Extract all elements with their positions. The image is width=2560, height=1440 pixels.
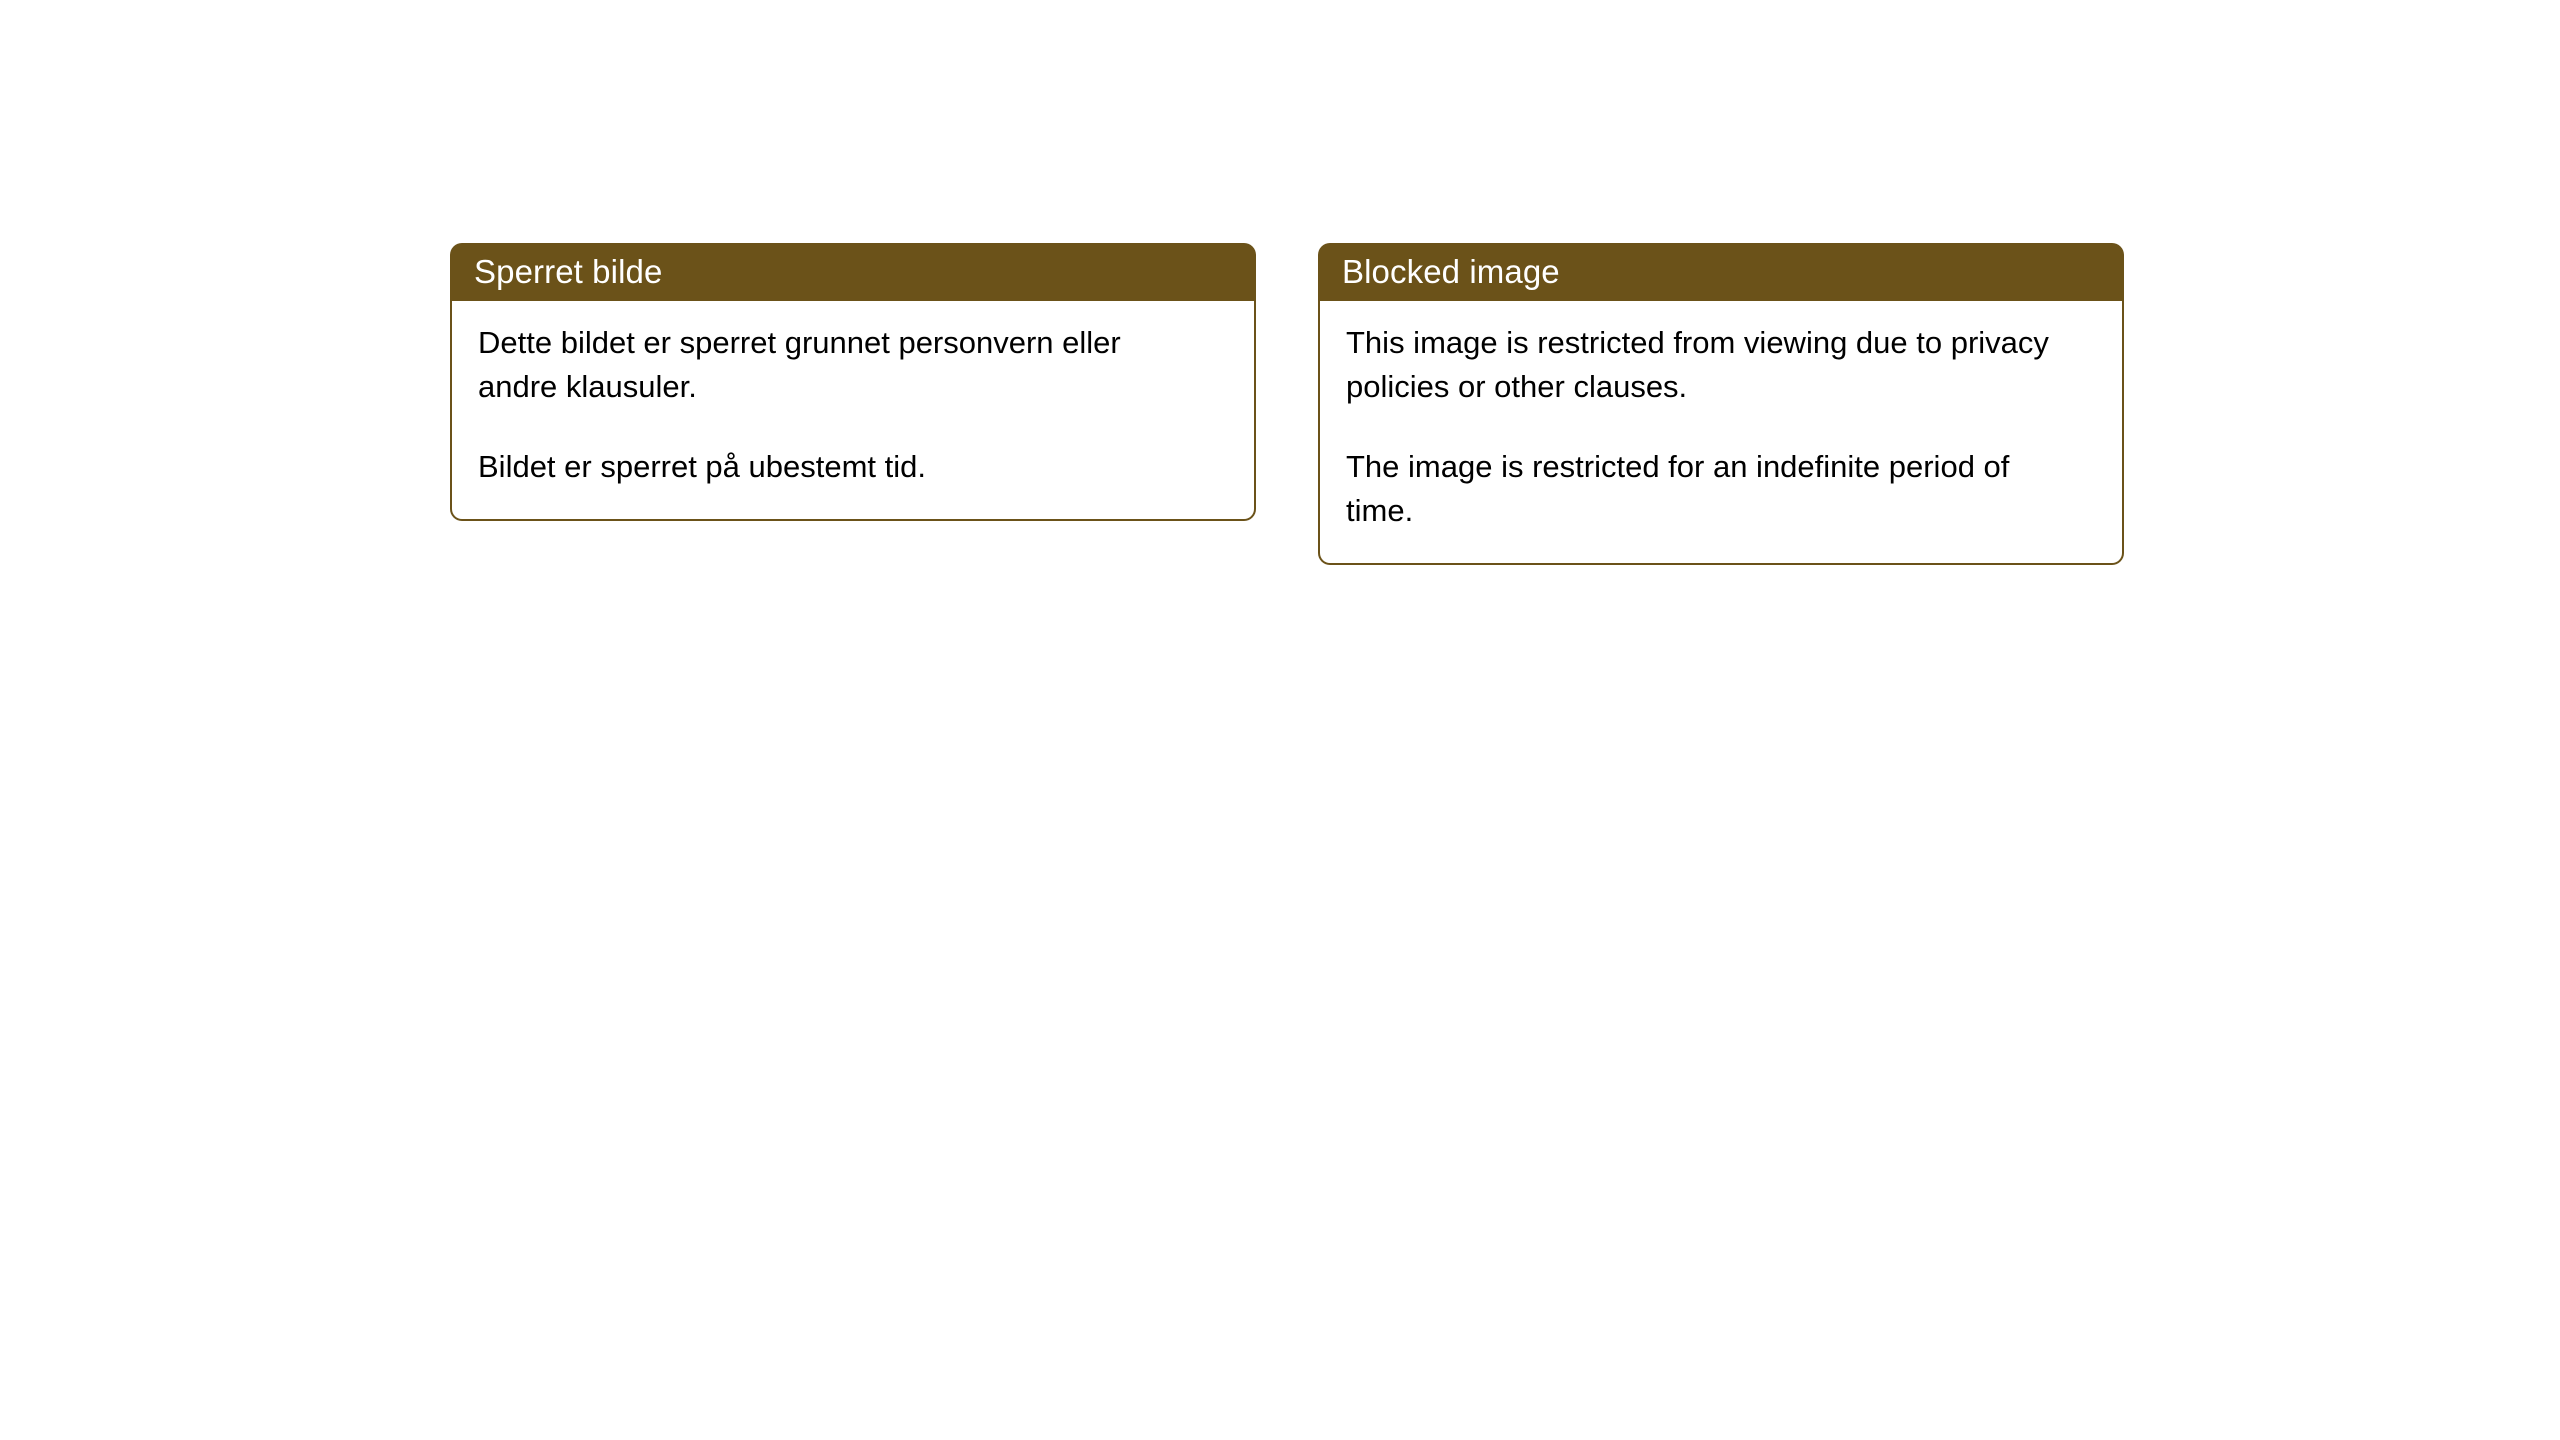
card-header-norwegian: Sperret bilde <box>450 243 1256 301</box>
blocked-image-card-english: Blocked image This image is restricted f… <box>1318 243 2124 565</box>
card-paragraph-duration-norwegian: Bildet er sperret på ubestemt tid. <box>478 445 1208 489</box>
card-header-english: Blocked image <box>1318 243 2124 301</box>
card-paragraph-reason-english: This image is restricted from viewing du… <box>1346 321 2076 409</box>
card-title-english: Blocked image <box>1342 253 1560 291</box>
card-title-norwegian: Sperret bilde <box>474 253 662 291</box>
card-body-english: This image is restricted from viewing du… <box>1318 301 2124 565</box>
blocked-image-card-norwegian: Sperret bilde Dette bildet er sperret gr… <box>450 243 1256 521</box>
page-root: Sperret bilde Dette bildet er sperret gr… <box>0 0 2560 1440</box>
card-body-norwegian: Dette bildet er sperret grunnet personve… <box>450 301 1256 521</box>
card-paragraph-duration-english: The image is restricted for an indefinit… <box>1346 445 2076 533</box>
card-paragraph-reason-norwegian: Dette bildet er sperret grunnet personve… <box>478 321 1208 409</box>
blocked-image-notice-group: Sperret bilde Dette bildet er sperret gr… <box>450 243 2124 565</box>
